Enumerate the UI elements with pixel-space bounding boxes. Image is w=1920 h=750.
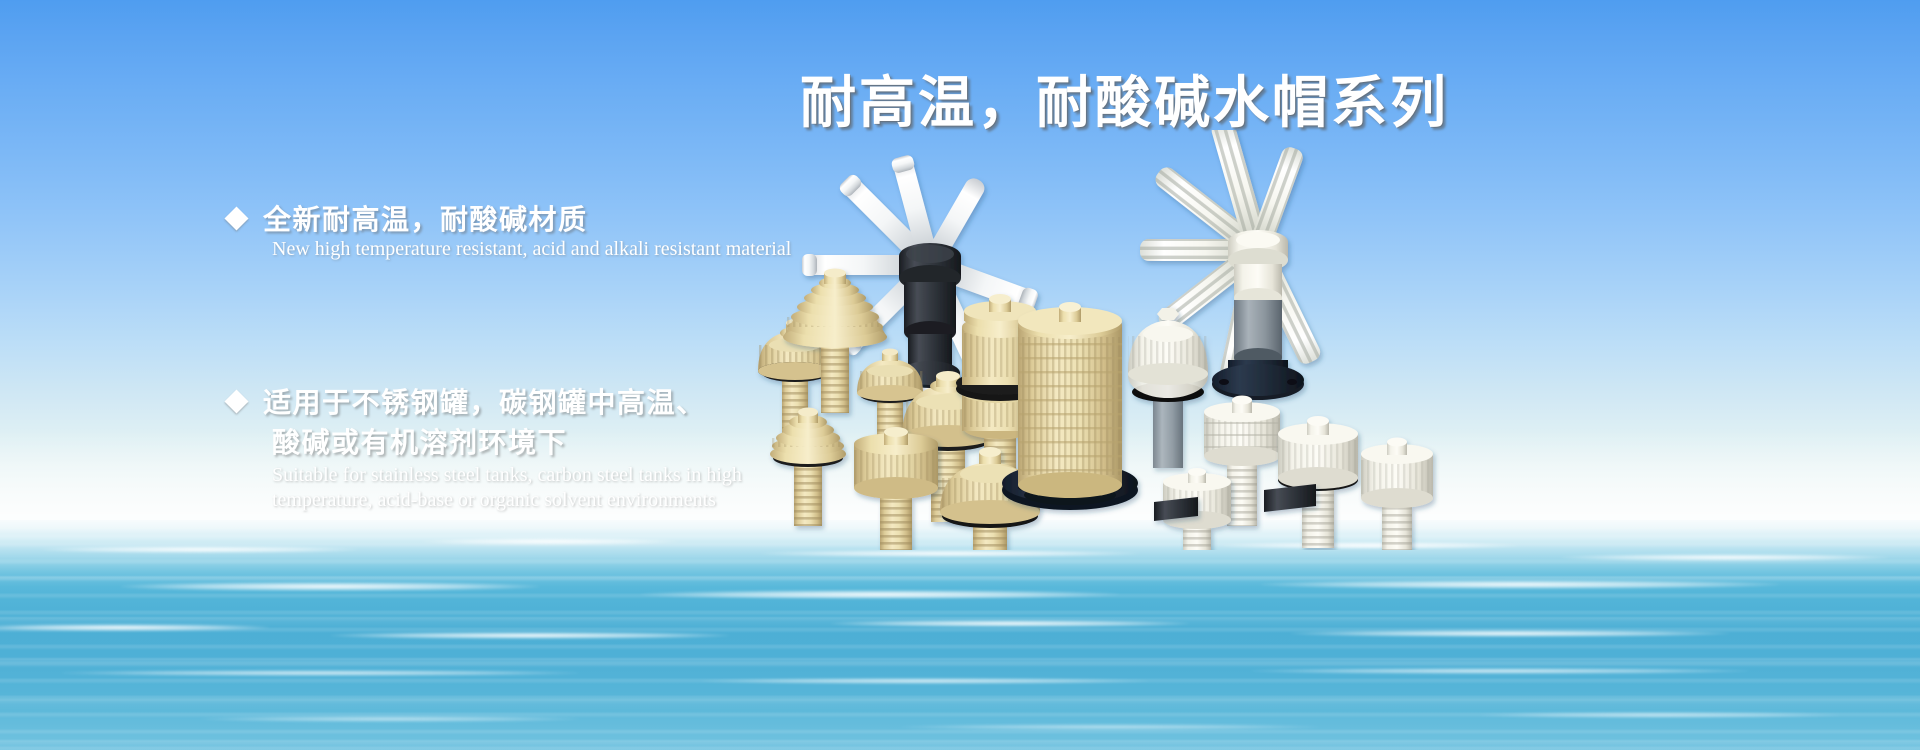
white-cylinder-nozzle: [1361, 438, 1433, 551]
water-streak: [200, 716, 580, 722]
water-streak: [1480, 712, 1840, 718]
diamond-bullet-icon: [224, 389, 248, 413]
water-streak: [1290, 630, 1730, 637]
water-streak: [900, 724, 1320, 730]
white-bulb-nozzle: [1128, 308, 1208, 468]
water-streak: [1250, 668, 1750, 674]
feature-bullet-1: 全新耐高温，耐酸碱材质 New high temperature resista…: [228, 200, 791, 262]
bullet-2-cn-line2: 酸碱或有机溶剂环境下: [228, 423, 742, 463]
water-streak: [60, 670, 580, 676]
water-streak: [40, 546, 360, 553]
bullet-2-en-line2: temperature, acid-base or organic solven…: [228, 488, 742, 513]
water-background: [0, 520, 1920, 750]
tan-dome-nozzle: [854, 427, 938, 550]
water-streak: [1560, 554, 1890, 561]
product-cluster-image: [700, 130, 1480, 550]
product-banner: 耐高温，耐酸碱水帽系列 全新耐高温，耐酸碱材质 New high tempera…: [0, 0, 1920, 750]
water-streak: [330, 632, 730, 639]
diamond-bullet-icon: [224, 206, 248, 230]
bullet-2-en-line1: Suitable for stainless steel tanks, carb…: [228, 463, 742, 488]
bullet-1-cn-text: 全新耐高温，耐酸碱材质: [263, 200, 588, 240]
tan-dome-nozzle: [770, 408, 846, 527]
water-streak: [420, 538, 680, 545]
feature-bullet-2: 适用于不锈钢罐，碳钢罐中高温、 酸碱或有机溶剂环境下 Suitable for …: [228, 383, 742, 513]
white-cylinder-nozzle: [1278, 416, 1358, 548]
tan-stacked-cylinder-filter: [1002, 302, 1138, 510]
water-streak: [120, 582, 540, 591]
water-streak: [700, 678, 1150, 684]
water-streak: [640, 590, 1120, 599]
page-title: 耐高温，耐酸碱水帽系列: [800, 58, 1500, 139]
water-streak: [830, 620, 1190, 627]
bullet-2-cn-line1: 适用于不锈钢罐，碳钢罐中高温、: [263, 383, 706, 423]
bullet-1-en-text: New high temperature resistant, acid and…: [222, 237, 791, 262]
water-streak: [1260, 580, 1780, 589]
water-streak: [760, 550, 1140, 557]
